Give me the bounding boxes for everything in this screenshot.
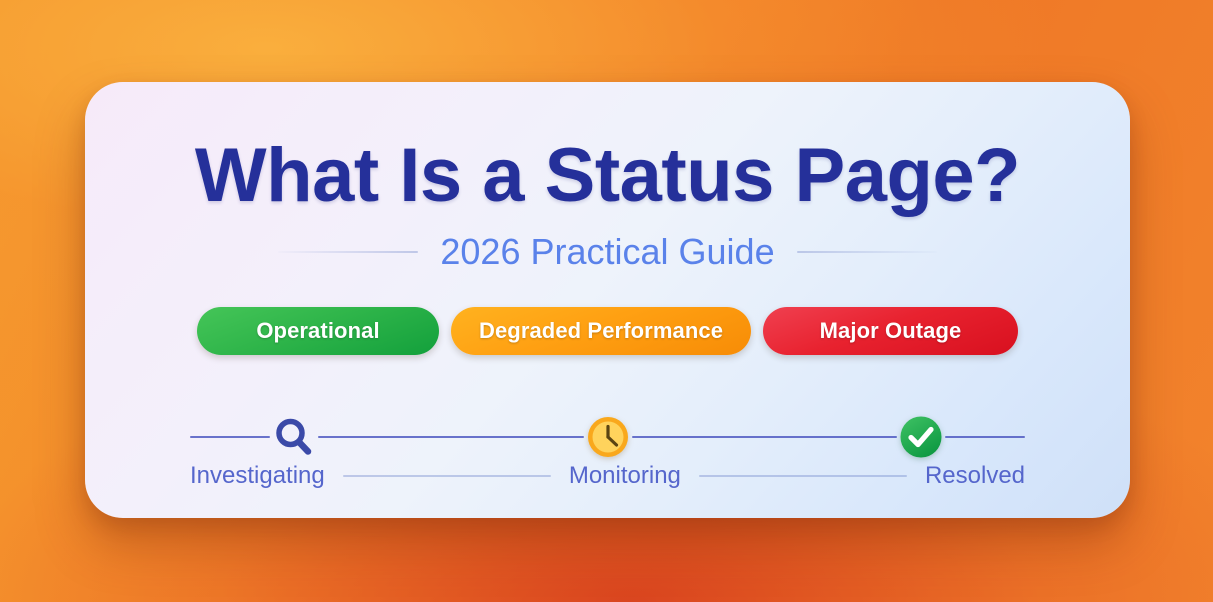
timeline-line-2	[632, 436, 898, 438]
timeline-node-monitoring[interactable]	[584, 413, 632, 461]
timeline-label-resolved: Resolved	[925, 464, 1025, 488]
status-badge-degraded-performance[interactable]: Degraded Performance	[451, 307, 751, 355]
timeline-node-resolved[interactable]	[897, 413, 945, 461]
status-badge-operational[interactable]: Operational	[197, 307, 439, 355]
page-subtitle: 2026 Practical Guide	[440, 234, 774, 270]
subtitle-rule-left	[278, 251, 418, 253]
timeline-line-start	[190, 436, 270, 438]
search-icon	[271, 414, 317, 460]
status-badge-major-outage[interactable]: Major Outage	[763, 307, 1018, 355]
timeline-label-row: Investigating Monitoring Resolved	[190, 459, 1025, 493]
background-canvas: What Is a Status Page? 2026 Practical Gu…	[0, 0, 1213, 602]
timeline-label-investigating: Investigating	[190, 464, 325, 488]
timeline-node-investigating[interactable]	[270, 413, 318, 461]
timeline-label-monitoring: Monitoring	[569, 464, 681, 488]
page-title: What Is a Status Page?	[85, 138, 1130, 214]
clock-icon	[585, 414, 631, 460]
label-connector-2	[699, 475, 907, 477]
subtitle-row: 2026 Practical Guide	[85, 229, 1130, 275]
timeline-line-end	[945, 436, 1025, 438]
timeline-track	[190, 413, 1025, 461]
label-connector-1	[343, 475, 551, 477]
status-page-card: What Is a Status Page? 2026 Practical Gu…	[85, 82, 1130, 518]
incident-timeline: Investigating Monitoring Resolved	[190, 387, 1025, 487]
timeline-line-1	[318, 436, 584, 438]
subtitle-rule-right	[797, 251, 937, 253]
status-badge-group: Operational Degraded Performance Major O…	[85, 307, 1130, 355]
check-circle-icon	[898, 414, 944, 460]
